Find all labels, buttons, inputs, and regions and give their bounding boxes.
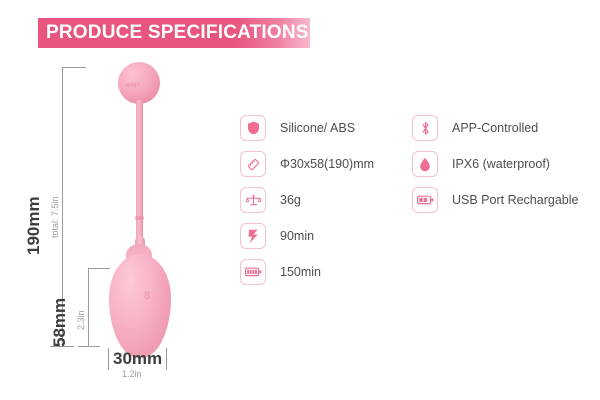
spec-label-material: Silicone/ ABS: [280, 121, 355, 135]
product-illustration: Magic 8: [96, 58, 206, 348]
battery-icon: [240, 259, 266, 285]
spec-row-material: Silicone/ ABS: [240, 110, 374, 146]
product-spec-sheet: PRODUCE SPECIFICATIONS Magic 8 190mm tot…: [0, 0, 600, 400]
spec-list-right: APP-Controlled IPX6 (waterproof) USB Por…: [412, 110, 578, 218]
spec-list-left: Silicone/ ABS Φ30x58(190)mm: [240, 110, 374, 290]
page-title-banner: PRODUCE SPECIFICATIONS: [38, 18, 310, 48]
ruler-icon: [240, 151, 266, 177]
body-dimension-line: [88, 268, 89, 347]
body-dimension-sublabel: 2.3in: [76, 310, 86, 330]
shield-icon: [240, 115, 266, 141]
spec-row-charge-time: 150min: [240, 254, 374, 290]
spec-row-app-control: APP-Controlled: [412, 110, 578, 146]
body-dimension-tick-top: [88, 268, 110, 269]
spec-label-charging: USB Port Rechargable: [452, 193, 578, 207]
total-dimension-sublabel: total: 7.5in: [50, 196, 60, 238]
width-dimension-sublabel: 1.2in: [122, 369, 142, 379]
page-title: PRODUCE SPECIFICATIONS: [38, 22, 309, 44]
lightning-icon: [240, 223, 266, 249]
spec-row-charging: USB Port Rechargable: [412, 182, 578, 218]
product-stem: [136, 100, 143, 254]
spec-label-charge-time: 150min: [280, 265, 321, 279]
spec-label-weight: 36g: [280, 193, 301, 207]
width-dimension-tick-right: [166, 348, 167, 370]
spec-row-size: Φ30x58(190)mm: [240, 146, 374, 182]
spec-label-waterproof: IPX6 (waterproof): [452, 157, 550, 171]
spec-label-runtime: 90min: [280, 229, 314, 243]
product-body: [109, 254, 171, 358]
product-stem-ring: [135, 216, 144, 220]
waterdrop-icon: [412, 151, 438, 177]
spec-label-size: Φ30x58(190)mm: [280, 157, 374, 171]
spec-row-runtime: 90min: [240, 218, 374, 254]
spec-row-weight: 36g: [240, 182, 374, 218]
total-dimension-tick-top: [62, 67, 86, 68]
usb-battery-icon: [412, 187, 438, 213]
product-body-mark: 8: [144, 290, 150, 302]
total-dimension-label: 190mm: [24, 196, 44, 255]
width-dimension-tick-left: [108, 348, 109, 370]
body-dimension-tick-bottom: [78, 346, 100, 347]
body-dimension-label: 58mm: [50, 298, 70, 347]
bluetooth-icon: [412, 115, 438, 141]
spec-row-waterproof: IPX6 (waterproof): [412, 146, 578, 182]
width-dimension-label: 30mm: [113, 349, 162, 369]
scale-icon: [240, 187, 266, 213]
spec-label-app-control: APP-Controlled: [452, 121, 538, 135]
